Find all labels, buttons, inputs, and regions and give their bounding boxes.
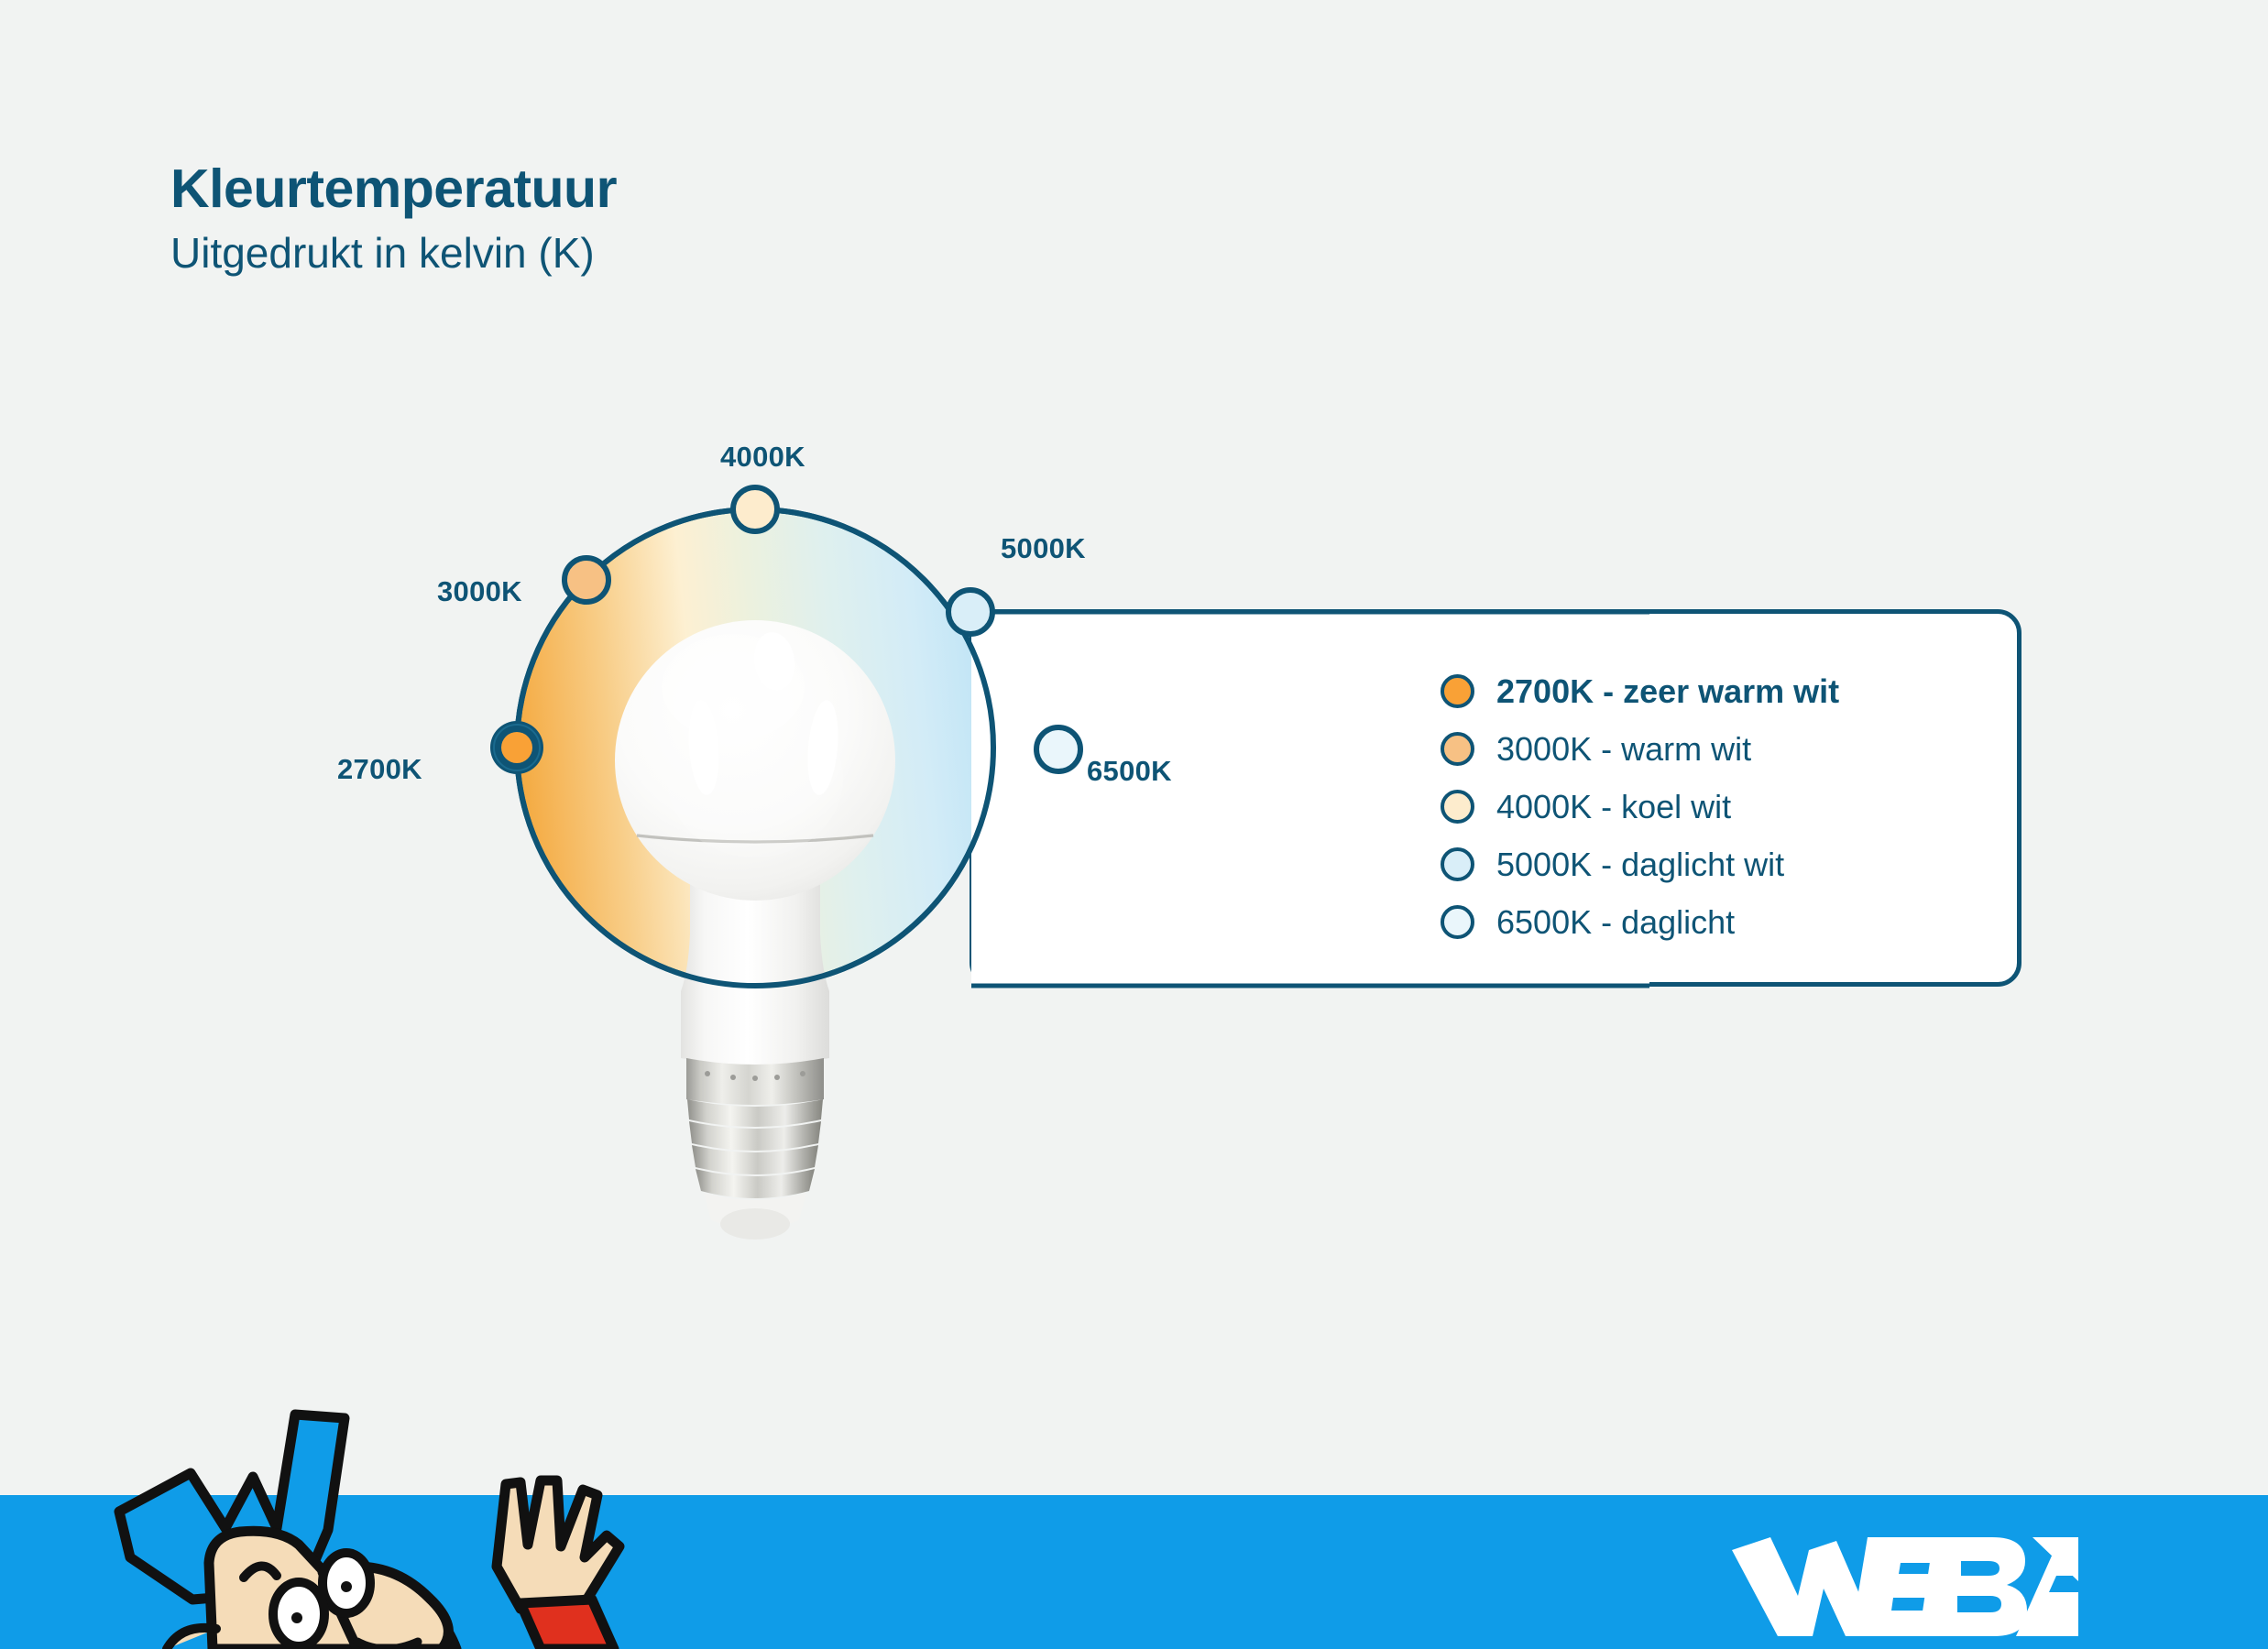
legend-item-2700[interactable]: 2700K - zeer warm wit	[1441, 662, 2009, 720]
dial-marker-4000[interactable]	[733, 487, 777, 531]
legend-swatch-5000-icon	[1441, 847, 1474, 881]
legend-swatch-4000-icon	[1441, 790, 1474, 824]
legend-swatch-2700-icon	[1441, 674, 1474, 708]
legend-swatch-6500-icon	[1441, 905, 1474, 939]
legend-item-6500[interactable]: 6500K - daglicht	[1441, 893, 2009, 951]
legend-label-2700: 2700K - zeer warm wit	[1496, 675, 1839, 708]
legend-swatch-3000-icon	[1441, 732, 1474, 766]
legend-item-5000[interactable]: 5000K - daglicht wit	[1441, 835, 2009, 893]
weba-logo	[1730, 1535, 2078, 1638]
legend-label-6500: 6500K - daglicht	[1496, 906, 1735, 939]
page-title: Kleurtemperatuur	[170, 161, 617, 218]
dial-label-6500: 6500K	[1087, 755, 1172, 788]
legend-label-5000: 5000K - daglicht wit	[1496, 848, 1784, 881]
legend-item-3000[interactable]: 3000K - warm wit	[1441, 720, 2009, 778]
dial-marker-2700[interactable]	[490, 721, 543, 774]
legend-list: 2700K - zeer warm wit 3000K - warm wit 4…	[1441, 662, 2009, 951]
dial-label-3000: 3000K	[437, 575, 522, 608]
legend-label-4000: 4000K - koel wit	[1496, 791, 1731, 824]
dial-marker-6500[interactable]	[1036, 727, 1080, 771]
header-block: Kleurtemperatuur Uitgedrukt in kelvin (K…	[170, 161, 617, 275]
weba-mascot-icon	[82, 1374, 669, 1649]
infographic-canvas: Kleurtemperatuur Uitgedrukt in kelvin (K…	[0, 0, 2268, 1649]
dial-label-5000: 5000K	[1001, 532, 1086, 565]
dial-label-4000: 4000K	[720, 441, 805, 474]
dial-marker-5000[interactable]	[948, 590, 992, 634]
dial-marker-3000[interactable]	[564, 558, 608, 602]
legend-label-3000: 3000K - warm wit	[1496, 733, 1751, 766]
legend-item-4000[interactable]: 4000K - koel wit	[1441, 778, 2009, 835]
dial-label-2700: 2700K	[337, 753, 422, 786]
page-subtitle: Uitgedrukt in kelvin (K)	[170, 231, 617, 275]
